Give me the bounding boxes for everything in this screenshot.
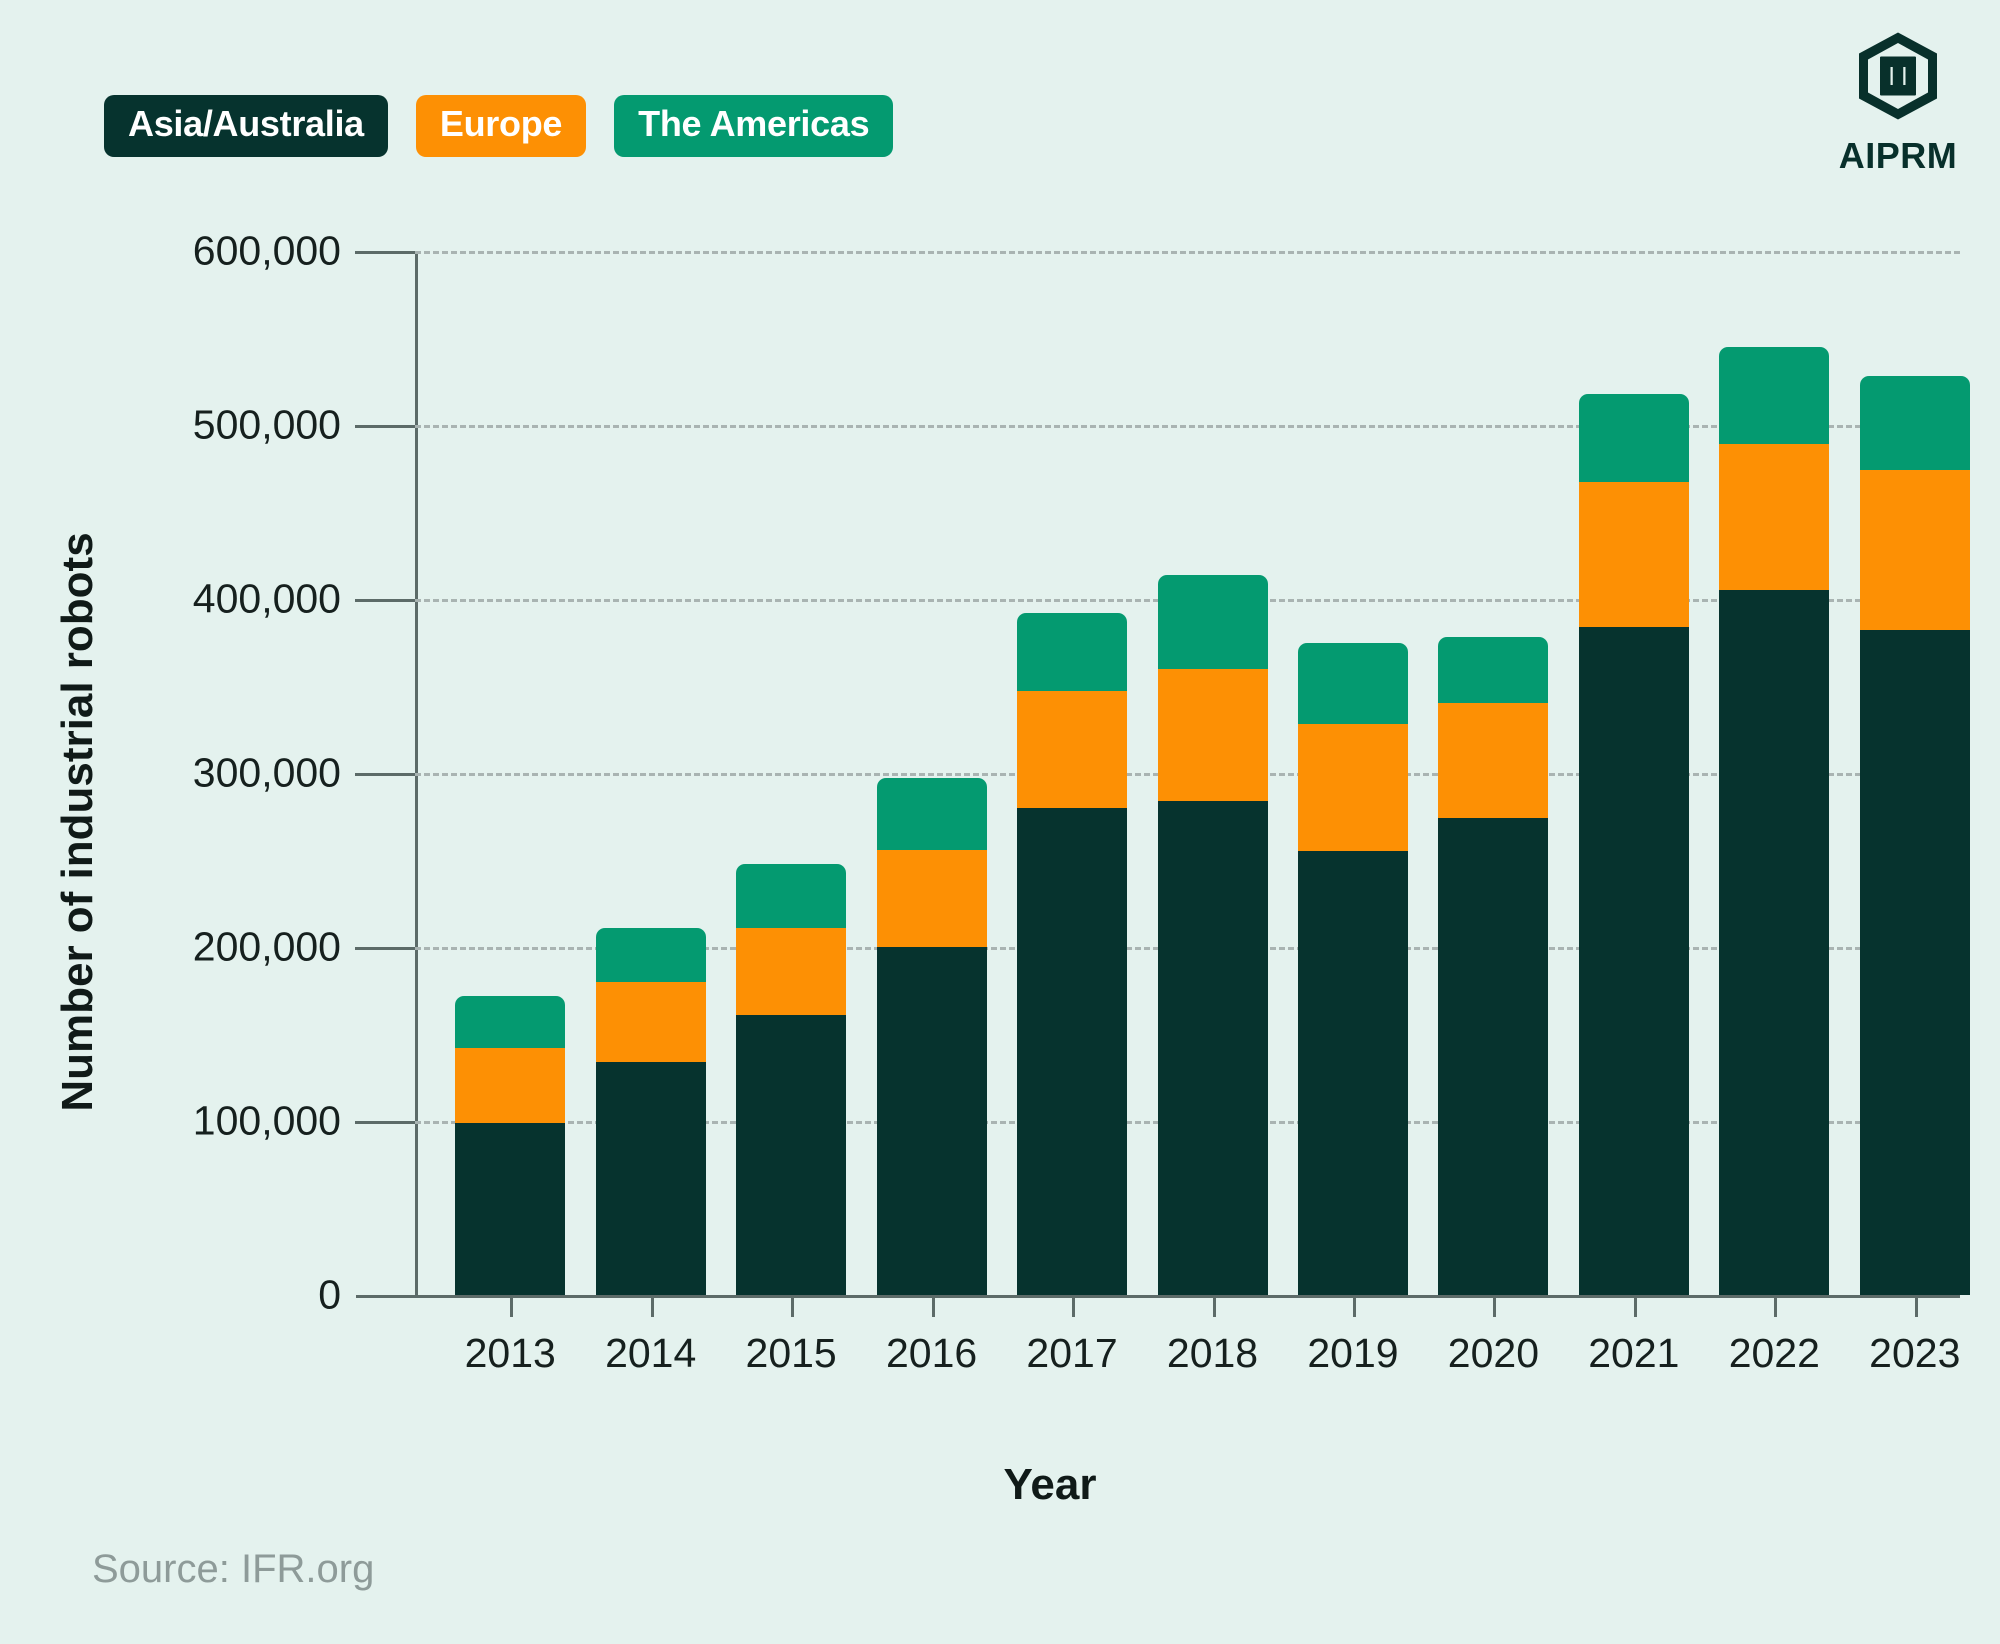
y-axis-tick-labels: 0100,000200,000300,000400,000500,000600,… — [0, 0, 355, 1644]
y-axis-tick — [355, 1121, 415, 1124]
x-axis-tick-label-2013: 2013 — [465, 1330, 556, 1377]
x-axis-tick — [1072, 1295, 1075, 1317]
bar-segment-the-americas-2014[interactable] — [596, 928, 706, 982]
bar-segment-asia-australia-2016[interactable] — [877, 947, 987, 1295]
bar-segment-the-americas-2021[interactable] — [1579, 394, 1689, 483]
bar-segment-asia-australia-2017[interactable] — [1017, 808, 1127, 1295]
x-axis-tick-label-2021: 2021 — [1588, 1330, 1679, 1377]
x-axis-tick — [791, 1295, 794, 1317]
x-axis-tick — [1213, 1295, 1216, 1317]
bar-segment-the-americas-2022[interactable] — [1719, 347, 1829, 444]
x-axis-tick-label-2023: 2023 — [1869, 1330, 1960, 1377]
x-axis-tick-label-2016: 2016 — [886, 1330, 977, 1377]
bar-segment-the-americas-2016[interactable] — [877, 778, 987, 849]
bar-segment-the-americas-2023[interactable] — [1860, 376, 1970, 470]
y-axis-tick — [355, 947, 415, 950]
x-axis-tick-label-2018: 2018 — [1167, 1330, 1258, 1377]
bar-segment-asia-australia-2018[interactable] — [1158, 801, 1268, 1295]
x-axis-tick-label-2017: 2017 — [1026, 1330, 1117, 1377]
bar-segment-asia-australia-2019[interactable] — [1298, 851, 1408, 1295]
stacked-bar-chart: Number of industrial robots Year 0100,00… — [0, 0, 2000, 1644]
y-axis-tick — [355, 251, 415, 254]
bar-segment-the-americas-2017[interactable] — [1017, 613, 1127, 691]
bar-segment-asia-australia-2021[interactable] — [1579, 627, 1689, 1295]
bar-stack-2014[interactable] — [596, 928, 706, 1295]
y-axis-tick-label: 500,000 — [193, 402, 341, 449]
y-axis-tick-label: 100,000 — [193, 1098, 341, 1145]
y-axis-tick-label: 0 — [318, 1272, 341, 1319]
bar-segment-asia-australia-2013[interactable] — [455, 1123, 565, 1295]
bar-segment-europe-2021[interactable] — [1579, 482, 1689, 626]
y-axis-tick-label: 200,000 — [193, 924, 341, 971]
x-axis-tick-label-2015: 2015 — [746, 1330, 837, 1377]
bar-stack-2019[interactable] — [1298, 643, 1408, 1296]
bar-segment-europe-2014[interactable] — [596, 982, 706, 1062]
bar-segment-asia-australia-2022[interactable] — [1719, 590, 1829, 1295]
bar-segment-asia-australia-2023[interactable] — [1860, 630, 1970, 1295]
x-axis-tick-label-2020: 2020 — [1448, 1330, 1539, 1377]
bar-stack-2018[interactable] — [1158, 575, 1268, 1295]
x-axis-title: Year — [1004, 1460, 1097, 1510]
x-axis-tick — [651, 1295, 654, 1317]
gridline — [415, 251, 1960, 254]
bar-segment-europe-2023[interactable] — [1860, 470, 1970, 630]
x-axis-tick — [1915, 1295, 1918, 1317]
y-axis-tick-label: 600,000 — [193, 228, 341, 275]
bar-segment-the-americas-2013[interactable] — [455, 996, 565, 1048]
bar-segment-europe-2022[interactable] — [1719, 444, 1829, 590]
plot-area — [415, 251, 1960, 1295]
bar-segment-the-americas-2015[interactable] — [736, 864, 846, 928]
bar-stack-2022[interactable] — [1719, 347, 1829, 1295]
x-axis-tick-label-2019: 2019 — [1307, 1330, 1398, 1377]
source-caption: Source: IFR.org — [92, 1547, 374, 1592]
x-axis-line — [356, 1295, 1960, 1298]
bar-segment-europe-2016[interactable] — [877, 850, 987, 947]
bar-segment-europe-2013[interactable] — [455, 1048, 565, 1123]
x-axis-tick-label-2022: 2022 — [1729, 1330, 1820, 1377]
bar-segment-europe-2015[interactable] — [736, 928, 846, 1015]
x-axis-tick — [1353, 1295, 1356, 1317]
y-axis-tick — [355, 773, 415, 776]
bar-segment-the-americas-2019[interactable] — [1298, 643, 1408, 725]
bar-stack-2020[interactable] — [1438, 637, 1548, 1295]
y-axis-tick — [355, 599, 415, 602]
bar-segment-the-americas-2020[interactable] — [1438, 637, 1548, 703]
bar-stack-2013[interactable] — [455, 996, 565, 1295]
bar-segment-asia-australia-2020[interactable] — [1438, 818, 1548, 1295]
bar-segment-europe-2018[interactable] — [1158, 669, 1268, 801]
y-axis-tick-label: 400,000 — [193, 576, 341, 623]
bar-stack-2017[interactable] — [1017, 613, 1127, 1295]
x-axis-tick — [1493, 1295, 1496, 1317]
bar-stack-2015[interactable] — [736, 863, 846, 1295]
x-axis-tick — [510, 1295, 513, 1317]
bar-segment-the-americas-2018[interactable] — [1158, 575, 1268, 669]
bar-segment-europe-2019[interactable] — [1298, 724, 1408, 851]
y-axis-tick-label: 300,000 — [193, 750, 341, 797]
bar-segment-asia-australia-2015[interactable] — [736, 1015, 846, 1295]
bar-segment-europe-2017[interactable] — [1017, 691, 1127, 808]
bar-segment-europe-2020[interactable] — [1438, 703, 1548, 818]
bar-stack-2023[interactable] — [1860, 376, 1970, 1295]
x-axis-tick — [932, 1295, 935, 1317]
x-axis-tick — [1774, 1295, 1777, 1317]
y-axis-tick — [355, 425, 415, 428]
bar-stack-2016[interactable] — [877, 778, 987, 1295]
x-axis-tick-label-2014: 2014 — [605, 1330, 696, 1377]
x-axis-tick — [1634, 1295, 1637, 1317]
bar-stack-2021[interactable] — [1579, 394, 1689, 1295]
bar-segment-asia-australia-2014[interactable] — [596, 1062, 706, 1295]
